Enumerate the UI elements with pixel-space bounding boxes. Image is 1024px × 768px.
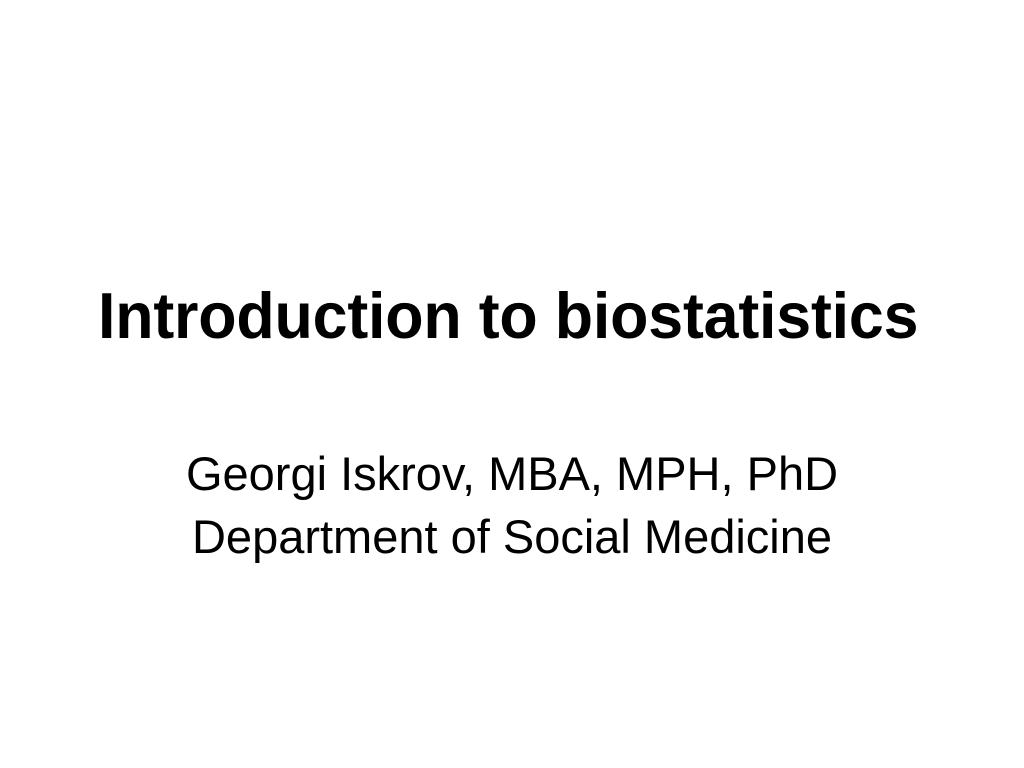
subtitle-block: Georgi Iskrov, MBA, MPH, PhD Department … (112, 442, 912, 568)
subtitle-line-department: Department of Social Medicine (112, 505, 912, 568)
subtitle-line-author: Georgi Iskrov, MBA, MPH, PhD (112, 442, 912, 505)
title-block: Introduction to biostatistics (98, 282, 938, 350)
presentation-slide: Introduction to biostatistics Georgi Isk… (0, 0, 1024, 768)
page-title: Introduction to biostatistics (98, 282, 909, 350)
